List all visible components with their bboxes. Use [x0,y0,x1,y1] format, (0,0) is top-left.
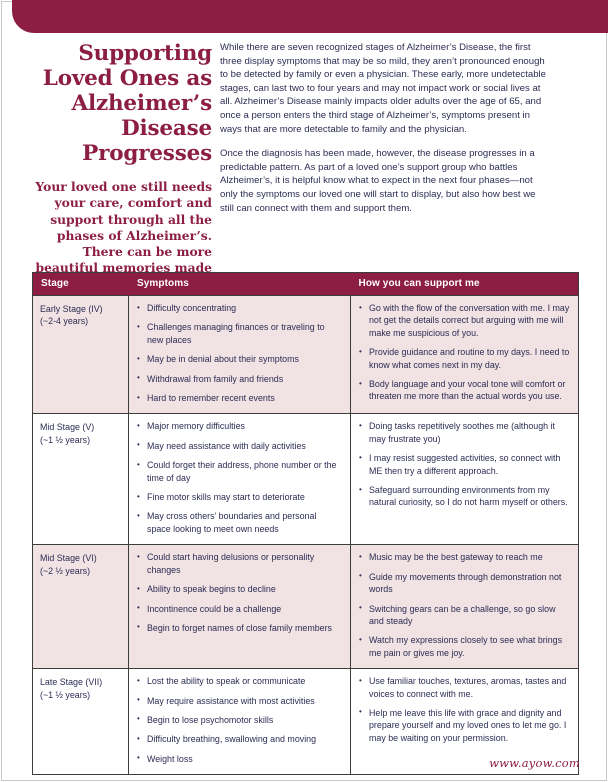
stage-duration: (~2-4 years) [40,315,120,327]
list-item: Provide guidance and routine to my days.… [359,346,570,371]
list-item: Ability to speak begins to decline [137,583,342,595]
symptoms-list: Difficulty concentrating Challenges mana… [137,302,342,404]
list-item: Lost the ability to speak or communicate [137,675,342,687]
stage-name: Mid Stage (VI) [40,552,120,564]
support-list: Doing tasks repetitively soothes me (alt… [359,420,570,508]
support-cell: Go with the flow of the conversation wit… [351,296,579,414]
top-banner [12,0,608,33]
page-canvas: Supporting Loved Ones as Alzheimer’s Dis… [0,0,608,782]
table-body: Early Stage (IV) (~2-4 years) Difficulty… [33,296,579,775]
list-item: Safeguard surrounding environments from … [359,484,570,509]
list-item: Hard to remember recent events [137,392,342,404]
list-item: Music may be the best gateway to reach m… [359,551,570,563]
table-row: Early Stage (IV) (~2-4 years) Difficulty… [33,296,579,414]
list-item: Watch my expressions closely to see what… [359,634,570,659]
intro-paragraph-1: While there are seven recognized stages … [220,41,548,136]
symptoms-cell: Could start having delusions or personal… [129,545,351,669]
intro-paragraph-2: Once the diagnosis has been made, howeve… [220,147,548,215]
support-list: Music may be the best gateway to reach m… [359,551,570,659]
stage-cell: Mid Stage (VI) (~2 ½ years) [33,545,129,669]
stage-duration: (~2 ½ years) [40,565,120,577]
symptoms-cell: Major memory difficulties May need assis… [129,414,351,545]
list-item: I may resist suggested activities, so co… [359,452,570,477]
stage-name: Early Stage (IV) [40,303,120,315]
symptoms-list: Could start having delusions or personal… [137,551,342,634]
stage-name: Mid Stage (V) [40,421,120,433]
support-list: Use familiar touches, textures, aromas, … [359,675,570,744]
symptoms-cell: Lost the ability to speak or communicate… [129,669,351,775]
list-item: Incontinence could be a challenge [137,603,342,615]
list-item: May be in denial about their symptoms [137,353,342,365]
stage-name: Late Stage (VII) [40,676,120,688]
list-item: Switching gears can be a challenge, so g… [359,603,570,628]
column-header-stage: Stage [33,273,129,296]
stage-cell: Early Stage (IV) (~2-4 years) [33,296,129,414]
list-item: Guide my movements through demonstration… [359,571,570,596]
column-header-symptoms: Symptoms [129,273,351,296]
table-header-row: Stage Symptoms How you can support me [33,273,579,296]
footer-website-url[interactable]: www.ayow.com [489,756,580,770]
list-item: Could start having delusions or personal… [137,551,342,576]
list-item: May require assistance with most activit… [137,695,342,707]
list-item: Major memory difficulties [137,420,342,432]
list-item: Challenges managing finances or travelin… [137,321,342,346]
list-item: May need assistance with daily activitie… [137,440,342,452]
table-header: Stage Symptoms How you can support me [33,273,579,296]
list-item: Doing tasks repetitively soothes me (alt… [359,420,570,445]
stage-duration: (~1 ½ years) [40,434,120,446]
stage-cell: Mid Stage (V) (~1 ½ years) [33,414,129,545]
list-item: Withdrawal from family and friends [137,373,342,385]
list-item: Go with the flow of the conversation wit… [359,302,570,339]
list-item: Help me leave this life with grace and d… [359,707,570,744]
list-item: Fine motor skills may start to deteriora… [137,491,342,503]
stage-cell: Late Stage (VII) (~1 ½ years) [33,669,129,775]
stage-table-container: Stage Symptoms How you can support me Ea… [32,272,578,775]
table-row: Mid Stage (V) (~1 ½ years) Major memory … [33,414,579,545]
stage-duration: (~1 ½ years) [40,689,120,701]
support-cell: Music may be the best gateway to reach m… [351,545,579,669]
list-item: Begin to forget names of close family me… [137,622,342,634]
symptoms-list: Lost the ability to speak or communicate… [137,675,342,765]
symptoms-cell: Difficulty concentrating Challenges mana… [129,296,351,414]
list-item: Begin to lose psychomotor skills [137,714,342,726]
support-list: Go with the flow of the conversation wit… [359,302,570,403]
list-item: Difficulty breathing, swallowing and mov… [137,733,342,745]
stage-progression-table: Stage Symptoms How you can support me Ea… [32,272,579,775]
symptoms-list: Major memory difficulties May need assis… [137,420,342,535]
support-cell: Doing tasks repetitively soothes me (alt… [351,414,579,545]
intro-column: While there are seven recognized stages … [212,41,570,215]
list-item: Use familiar touches, textures, aromas, … [359,675,570,700]
list-item: Body language and your vocal tone will c… [359,378,570,403]
list-item: May cross others’ boundaries and persona… [137,510,342,535]
page-title: Supporting Loved Ones as Alzheimer’s Dis… [22,41,212,166]
list-item: Could forget their address, phone number… [137,459,342,484]
list-item: Weight loss [137,753,342,765]
list-item: Difficulty concentrating [137,302,342,314]
table-row: Mid Stage (VI) (~2 ½ years) Could start … [33,545,579,669]
column-header-support: How you can support me [351,273,579,296]
